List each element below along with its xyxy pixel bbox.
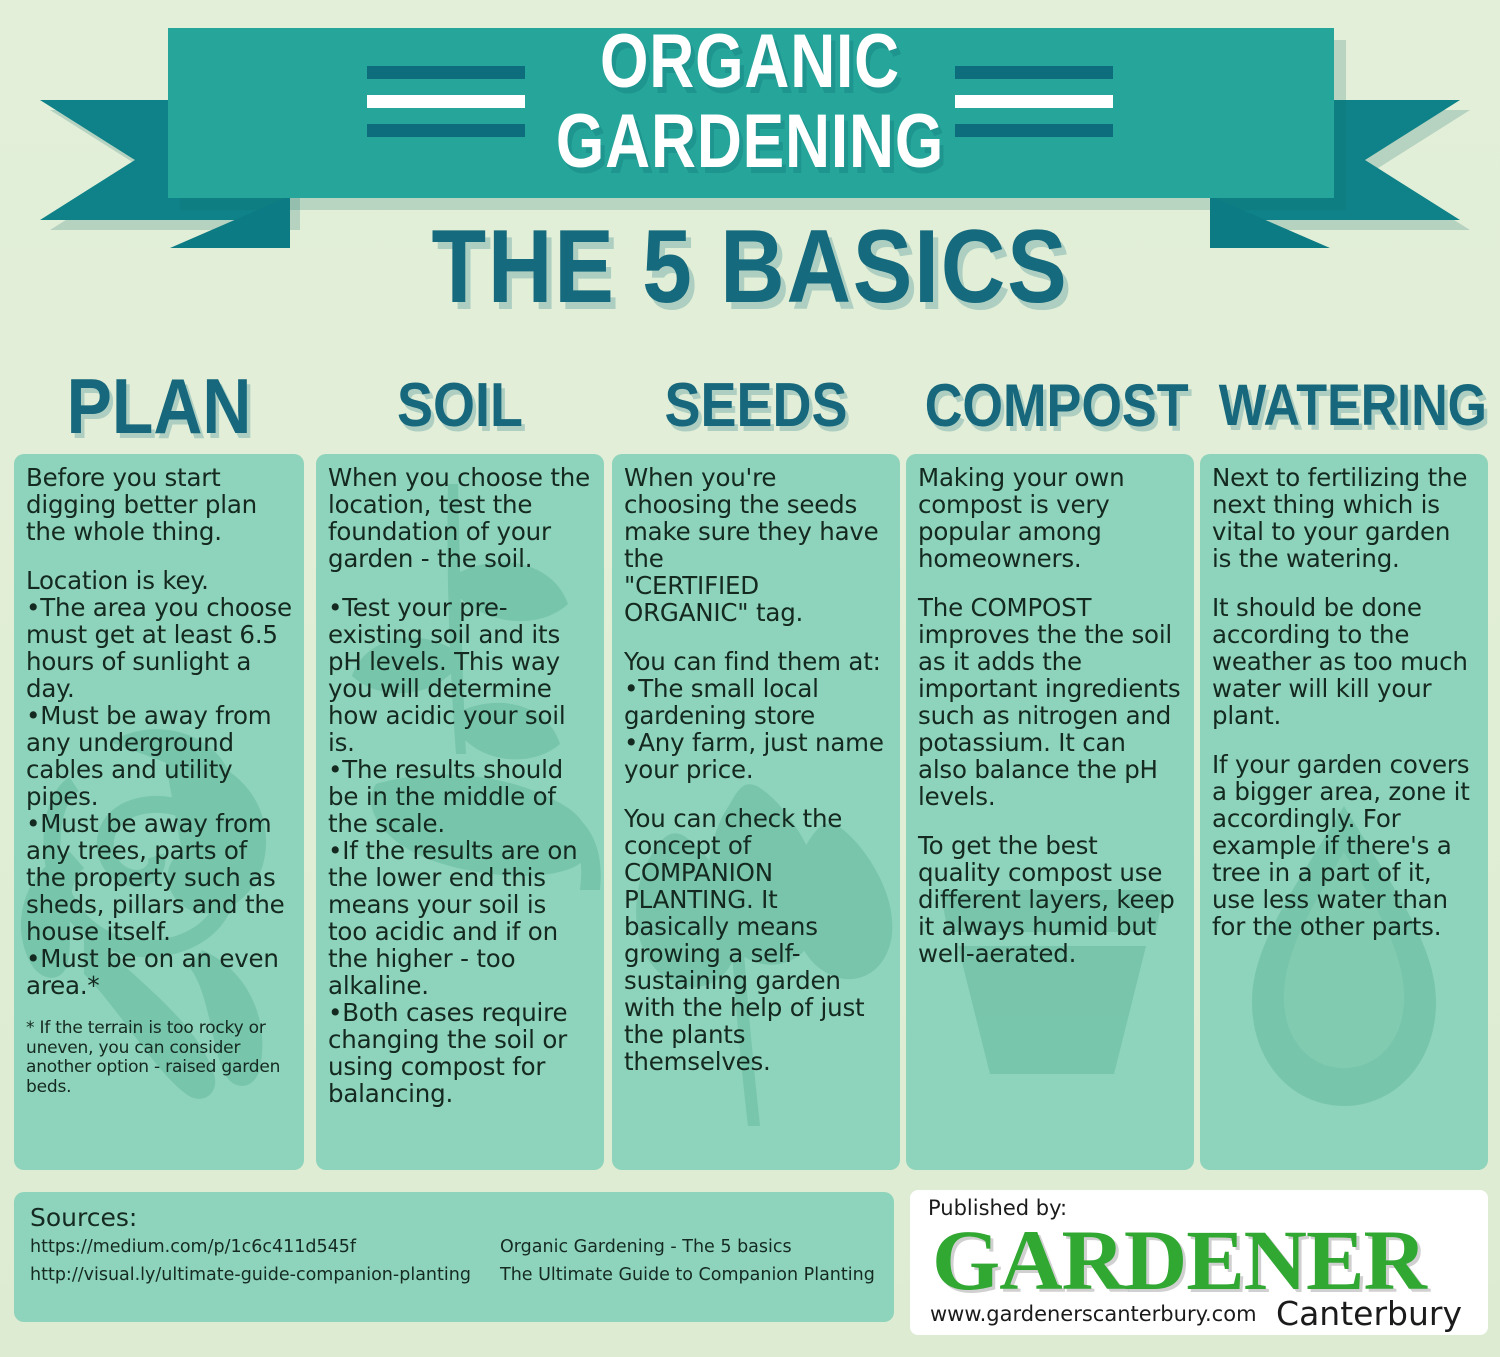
basics-columns: PLAN Before you st: [0, 368, 1500, 1173]
sources-card: Sources: https://medium.com/p/1c6c411d54…: [14, 1192, 894, 1322]
column-heading-watering: WATERING: [1219, 368, 1470, 444]
paragraph: It should be done according to the weath…: [1212, 594, 1476, 729]
column-heading-plan: PLAN: [33, 368, 285, 444]
sources-title: Sources:: [30, 1204, 878, 1232]
paragraph: When you choose the location, test the f…: [328, 464, 592, 572]
infographic-page: ORGANIC GARDENING THE 5 BASICS PLAN: [0, 0, 1500, 1357]
column-heading-compost: COMPOST: [925, 368, 1176, 444]
banner-title: ORGANIC GARDENING: [135, 22, 1365, 182]
source-name: The Ultimate Guide to Companion Planting: [500, 1261, 875, 1289]
paragraph: Before you start digging better plan the…: [26, 464, 292, 545]
publisher-website[interactable]: www.gardenerscanterbury.com: [930, 1302, 1257, 1326]
column-body-watering: Next to fertilizing the next thing which…: [1200, 454, 1488, 946]
column-card-watering: Next to fertilizing the next thing which…: [1200, 454, 1488, 1170]
column-card-seeds: When you're choosing the seeds make sure…: [612, 454, 900, 1170]
publisher-city: Canterbury: [1276, 1294, 1462, 1333]
source-row: http://visual.ly/ultimate-guide-companio…: [30, 1261, 878, 1289]
gardener-logo: GARDENER: [932, 1216, 1452, 1304]
paragraph: You can find them at: •The small local g…: [624, 648, 888, 783]
source-url[interactable]: http://visual.ly/ultimate-guide-companio…: [30, 1261, 500, 1289]
column-seeds: SEEDS When you're choosing the seeds mak…: [612, 368, 900, 1173]
source-name: Organic Gardening - The 5 basics: [500, 1233, 792, 1261]
paragraph: The COMPOST improves the the soil as it …: [918, 594, 1182, 810]
paragraph: Location is key. •The area you choose mu…: [26, 567, 292, 999]
column-plan: PLAN Before you st: [14, 368, 304, 1173]
source-row: https://medium.com/p/1c6c411d545f Organi…: [30, 1233, 878, 1261]
paragraph: To get the best quality compost use diff…: [918, 832, 1182, 967]
banner-title-line1: ORGANIC: [135, 22, 1365, 102]
column-card-soil: When you choose the location, test the f…: [316, 454, 604, 1170]
header-banner: ORGANIC GARDENING: [0, 0, 1500, 230]
paragraph: •Test your pre-existing soil and its pH …: [328, 594, 592, 1107]
column-card-plan: Before you start digging better plan the…: [14, 454, 304, 1170]
column-body-seeds: When you're choosing the seeds make sure…: [612, 454, 900, 1081]
page-subtitle: THE 5 BASICS: [105, 212, 1395, 322]
publisher-card: Published by: GARDENER Canterbury www.ga…: [910, 1190, 1488, 1335]
banner-title-line2: GARDENING: [135, 102, 1365, 182]
paragraph: If your garden covers a bigger area, zon…: [1212, 751, 1476, 940]
column-card-compost: Making your own compost is very popular …: [906, 454, 1194, 1170]
column-body-soil: When you choose the location, test the f…: [316, 454, 604, 1113]
column-heading-soil: SOIL: [335, 368, 586, 444]
paragraph: When you're choosing the seeds make sure…: [624, 464, 888, 626]
source-url[interactable]: https://medium.com/p/1c6c411d545f: [30, 1233, 500, 1261]
footnote: * If the terrain is too rocky or uneven,…: [26, 1019, 292, 1097]
paragraph: Next to fertilizing the next thing which…: [1212, 464, 1476, 572]
column-heading-seeds: SEEDS: [631, 368, 882, 444]
paragraph: You can check the concept of COMPANION P…: [624, 805, 888, 1075]
column-compost: COMPOST Making your own compost is very …: [906, 368, 1194, 1173]
column-soil: SOIL When you choo: [316, 368, 604, 1173]
column-body-compost: Making your own compost is very popular …: [906, 454, 1194, 973]
paragraph: Making your own compost is very popular …: [918, 464, 1182, 572]
column-body-plan: Before you start digging better plan the…: [14, 454, 304, 1103]
column-watering: WATERING Next to fertilizing the next th…: [1200, 368, 1488, 1173]
